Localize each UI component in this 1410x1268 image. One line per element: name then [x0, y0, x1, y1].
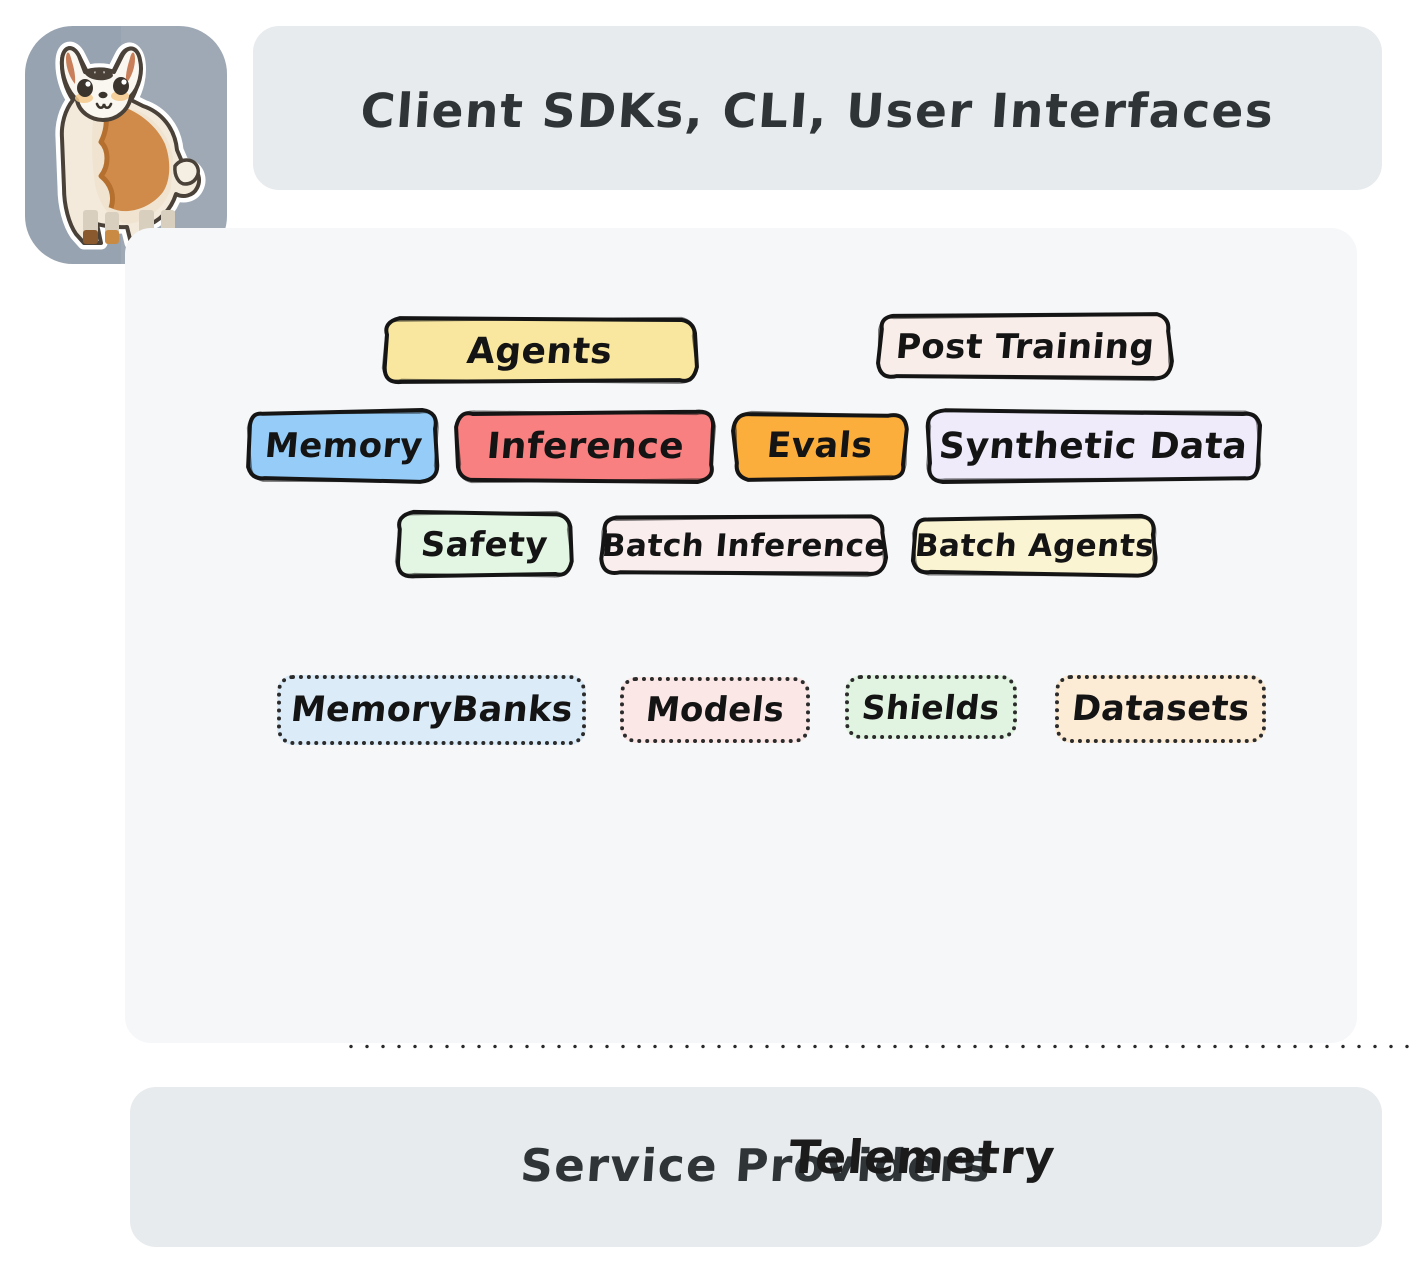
providers-title: Service Providers: [128, 1139, 1384, 1192]
api-box-safety[interactable]: Safety: [398, 514, 570, 576]
api-box-inference[interactable]: Inference: [458, 412, 713, 480]
api-box-label: Batch Inference: [600, 528, 887, 564]
resource-box-label: Datasets: [1070, 689, 1252, 729]
api-box-label: Synthetic Data: [937, 426, 1249, 467]
api-box-label: Evals: [765, 426, 874, 466]
resource-box-memorybanks[interactable]: MemoryBanks: [277, 675, 586, 745]
resource-box-label: Shields: [860, 688, 1002, 727]
api-box-memory[interactable]: Memory: [250, 412, 437, 480]
llama-stack-api-panel: Telemetry AgentsPost TrainingMemoryInfer…: [125, 228, 1357, 1043]
api-box-label: Batch Agents: [914, 528, 1156, 564]
resource-box-datasets[interactable]: Datasets: [1055, 675, 1266, 743]
api-box-post-training[interactable]: Post Training: [880, 316, 1170, 378]
resource-box-label: Models: [644, 690, 787, 730]
api-box-label: Memory: [263, 426, 424, 466]
api-box-synthetic-data[interactable]: Synthetic Data: [928, 412, 1258, 480]
diagram-canvas: Client SDKs, CLI, User Interfaces: [0, 0, 1410, 1268]
header-title: Client SDKs, CLI, User Interfaces: [251, 84, 1384, 139]
telemetry-label: Telemetry: [786, 1130, 1057, 1184]
api-box-label: Post Training: [894, 327, 1156, 367]
api-box-batch-inference[interactable]: Batch Inference: [603, 518, 884, 574]
api-box-batch-agents[interactable]: Batch Agents: [915, 518, 1155, 574]
resource-box-models[interactable]: Models: [620, 677, 810, 743]
section-divider: [343, 1044, 1410, 1049]
resource-box-shields[interactable]: Shields: [845, 675, 1017, 739]
client-interfaces-panel: Client SDKs, CLI, User Interfaces: [253, 26, 1382, 190]
api-box-label: Agents: [466, 331, 615, 372]
service-providers-panel: Service Providers: [130, 1087, 1382, 1247]
api-box-label: Safety: [419, 525, 549, 565]
resource-box-label: MemoryBanks: [289, 690, 575, 730]
api-box-evals[interactable]: Evals: [735, 414, 905, 478]
api-box-label: Inference: [485, 426, 686, 467]
llama-icon: [35, 38, 215, 253]
api-box-agents[interactable]: Agents: [385, 320, 695, 382]
